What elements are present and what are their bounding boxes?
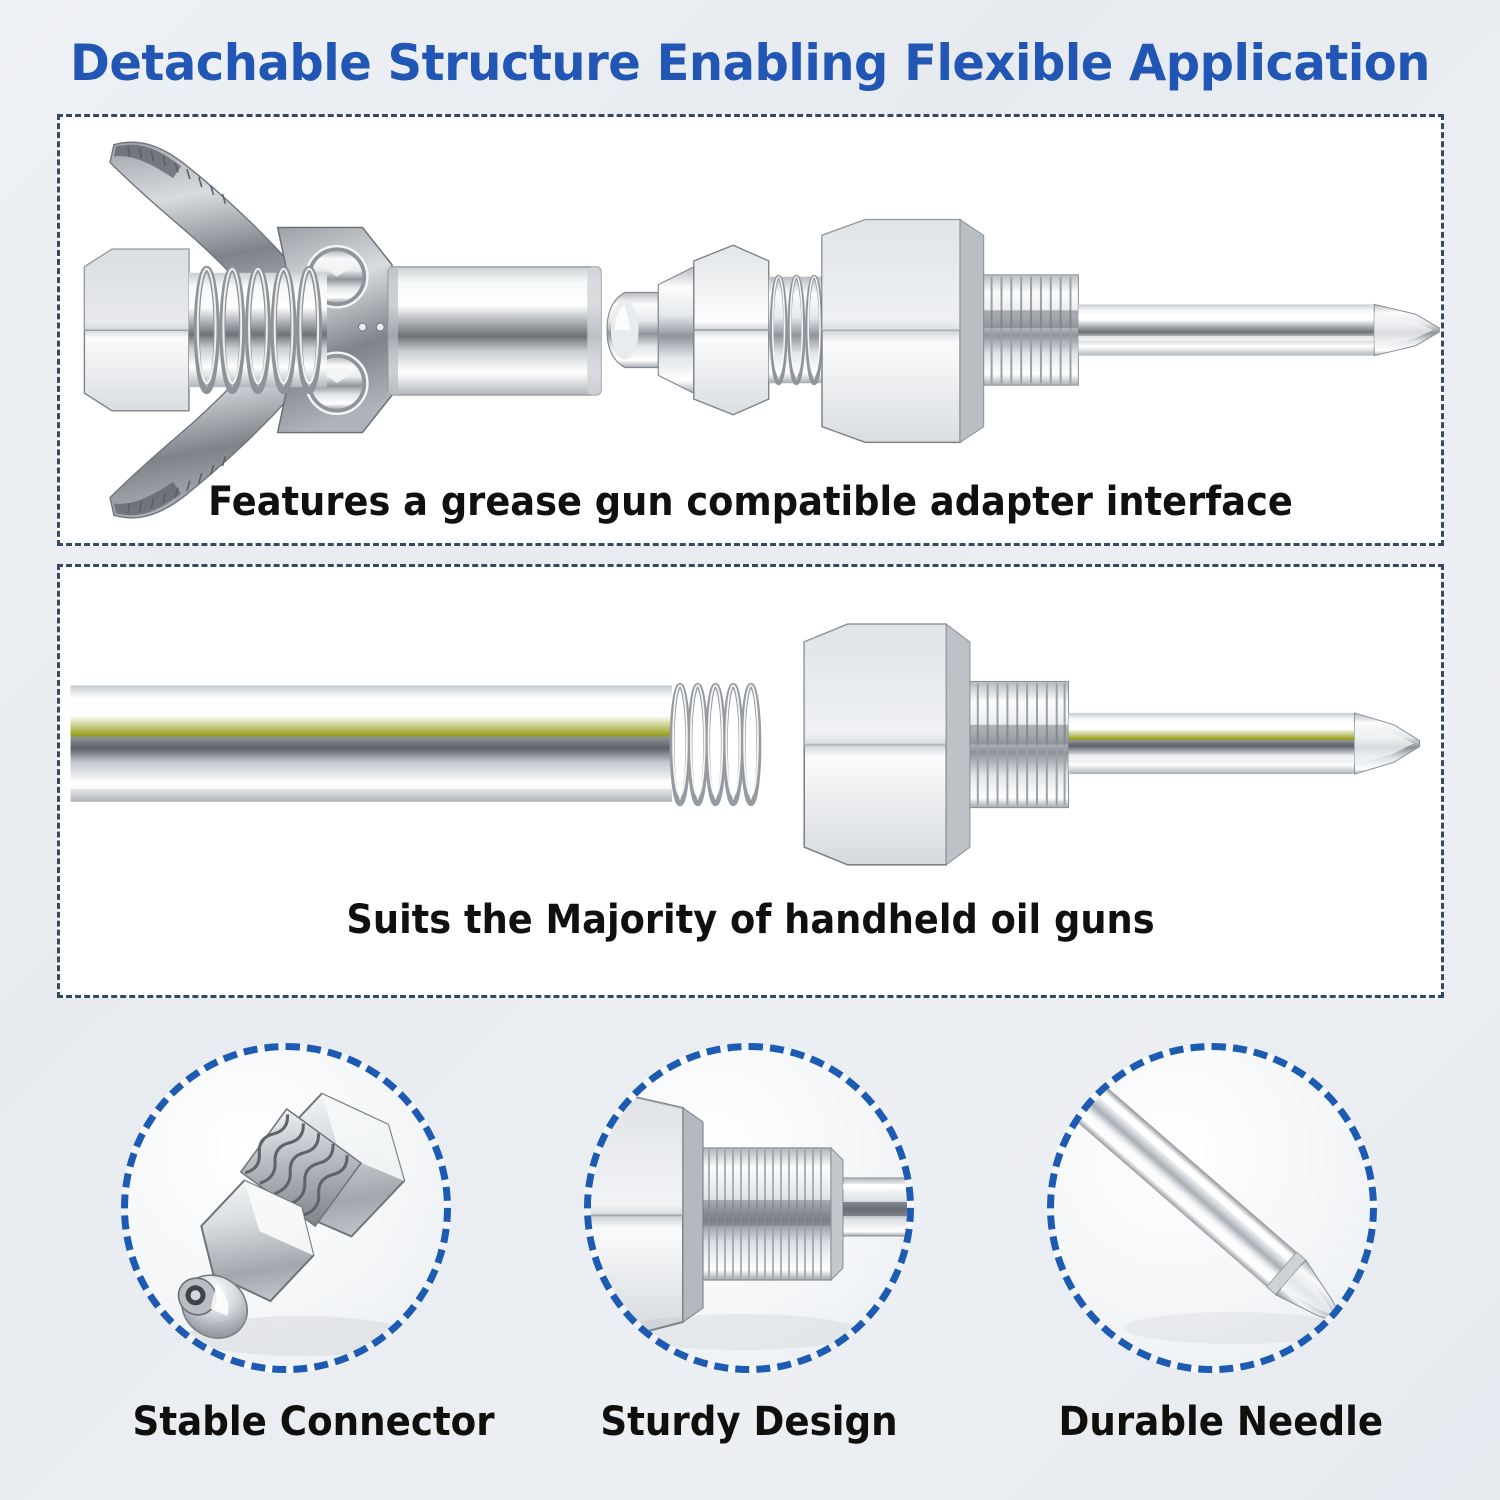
- feature-sturdy-design: Sturdy Design: [584, 1043, 914, 1445]
- extension-tube: [71, 685, 759, 803]
- hex-adapter-needle: [820, 117, 1439, 442]
- page-title: Detachable Structure Enabling Flexible A…: [30, 34, 1470, 92]
- feature-2-label: Sturdy Design: [596, 1399, 903, 1445]
- needle-tip-closeup-icon: [1054, 1050, 1377, 1373]
- grease-gun-coupler: [84, 142, 601, 518]
- feature-durable-needle: Durable Needle: [1047, 1043, 1377, 1445]
- panel-detachable-assembly: Features a grease gun compatible adapter…: [57, 114, 1444, 546]
- feature-circle-1: [121, 1043, 451, 1373]
- feature-1-label: Stable Connector: [133, 1399, 440, 1445]
- feature-circle-2: [584, 1043, 914, 1373]
- feature-stable-connector: Stable Connector: [121, 1043, 451, 1445]
- panel-2-caption: Suits the Majority of handheld oil guns: [115, 897, 1386, 943]
- panel-1-caption: Features a grease gun compatible adapter…: [115, 479, 1386, 525]
- feature-3-label: Durable Needle: [1059, 1399, 1366, 1445]
- hex-coupler-closeup-icon: [591, 1050, 914, 1373]
- feature-circle-3: [1047, 1043, 1377, 1373]
- panel-handheld-compatibility: Suits the Majority of handheld oil guns: [57, 564, 1444, 998]
- grease-nipple-fitting: [607, 245, 877, 415]
- grease-nipple-closeup-icon: [128, 1050, 451, 1373]
- hex-adapter-needle-2: [804, 624, 1419, 865]
